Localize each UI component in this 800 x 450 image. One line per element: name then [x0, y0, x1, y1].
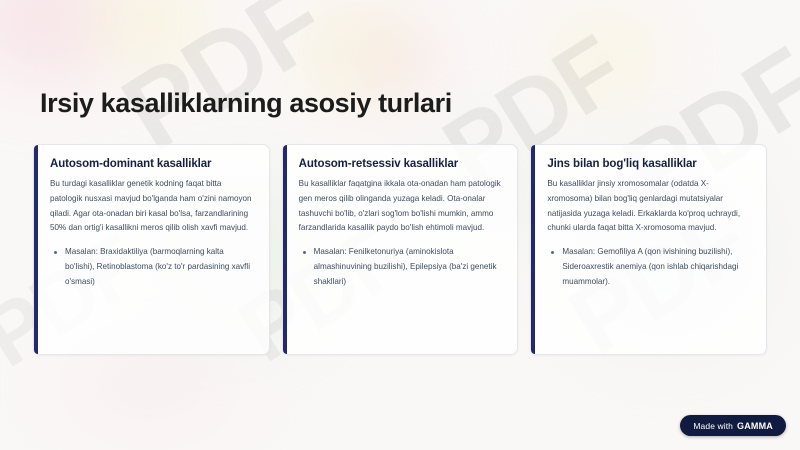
background-blob	[548, 14, 658, 104]
card-body-text: Bu kasalliklar jinsiy xromosomalar (odat…	[547, 177, 752, 236]
card-accent-bar	[531, 145, 535, 354]
card-body-text: Bu turdagi kasalliklar genetik kodning f…	[50, 177, 255, 236]
card-sex-linked: Jins bilan bog'liq kasalliklar Bu kasall…	[530, 144, 767, 355]
page-title: Irsiy kasalliklarning asosiy turlari	[40, 88, 452, 119]
background-blob	[300, 10, 420, 100]
made-with-label: Made with	[693, 421, 733, 431]
background-blob	[96, 0, 206, 69]
card-grid: Autosom-dominant kasalliklar Bu turdagi …	[33, 144, 767, 355]
background-blob	[352, 26, 442, 96]
list-item: Masalan: Gemofiliya A (qon ivishining bu…	[562, 245, 752, 289]
card-example-list: Masalan: Gemofiliya A (qon ivishining bu…	[547, 245, 752, 289]
card-accent-bar	[34, 145, 38, 354]
made-with-gamma-badge[interactable]: Made with GAMMA	[680, 415, 786, 436]
list-item: Masalan: Fenilketonuriya (aminokislota a…	[314, 245, 504, 289]
list-item: Masalan: Braxidaktiliya (barmoqlarning k…	[65, 245, 255, 289]
card-accent-bar	[283, 145, 287, 354]
card-title: Autosom-retsessiv kasalliklar	[299, 158, 504, 170]
card-title: Autosom-dominant kasalliklar	[50, 158, 255, 170]
card-body-text: Bu kasalliklar faqatgina ikkala ota-onad…	[299, 177, 504, 236]
card-autosomal-dominant: Autosom-dominant kasalliklar Bu turdagi …	[33, 144, 270, 355]
card-autosomal-recessive: Autosom-retsessiv kasalliklar Bu kasalli…	[282, 144, 519, 355]
card-example-list: Masalan: Braxidaktiliya (barmoqlarning k…	[50, 245, 255, 289]
gamma-brand-label: GAMMA	[737, 421, 773, 431]
background-blob	[0, 0, 120, 84]
card-example-list: Masalan: Fenilketonuriya (aminokislota a…	[299, 245, 504, 289]
card-title: Jins bilan bog'liq kasalliklar	[547, 158, 752, 170]
